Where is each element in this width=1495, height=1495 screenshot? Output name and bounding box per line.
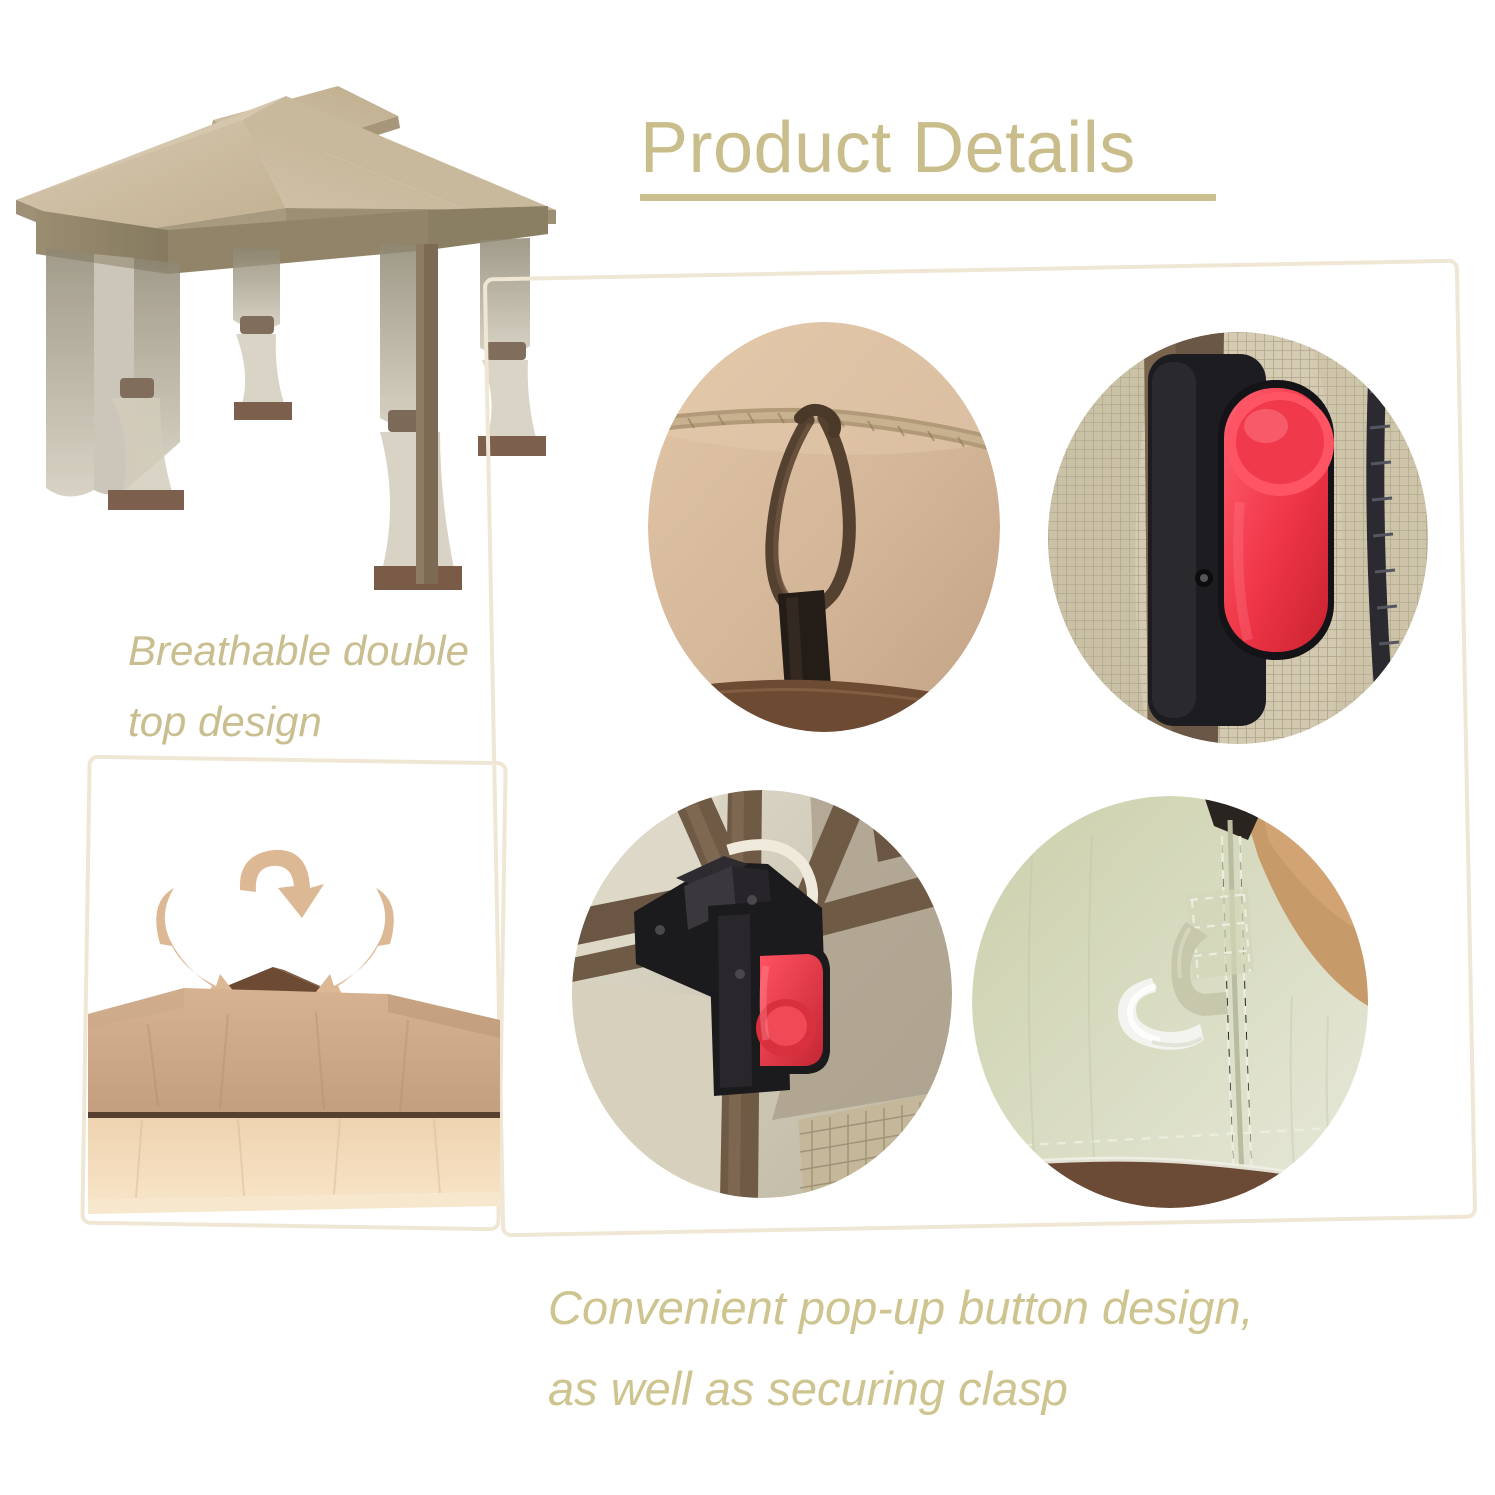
- caption-bottom-line2: as well as securing clasp: [548, 1349, 1308, 1430]
- detail-photo-d-ring-clasp: [972, 796, 1368, 1208]
- detail-photo-elastic-loop: [648, 322, 1000, 732]
- page-title: Product Details: [640, 112, 1280, 201]
- product-details-infographic: Breathable double top design Product Det…: [0, 0, 1495, 1495]
- vent-airflow-diagram: [88, 762, 500, 1224]
- detail-photo-pop-up-button: [1048, 332, 1428, 744]
- caption-bottom-line1: Convenient pop-up button design,: [548, 1268, 1308, 1349]
- detail-photo-corner-joint-clasp: [572, 790, 952, 1198]
- page-title-underline: [640, 194, 1216, 201]
- page-title-text: Product Details: [640, 112, 1280, 184]
- caption-pop-up-button: Convenient pop-up button design, as well…: [548, 1268, 1308, 1430]
